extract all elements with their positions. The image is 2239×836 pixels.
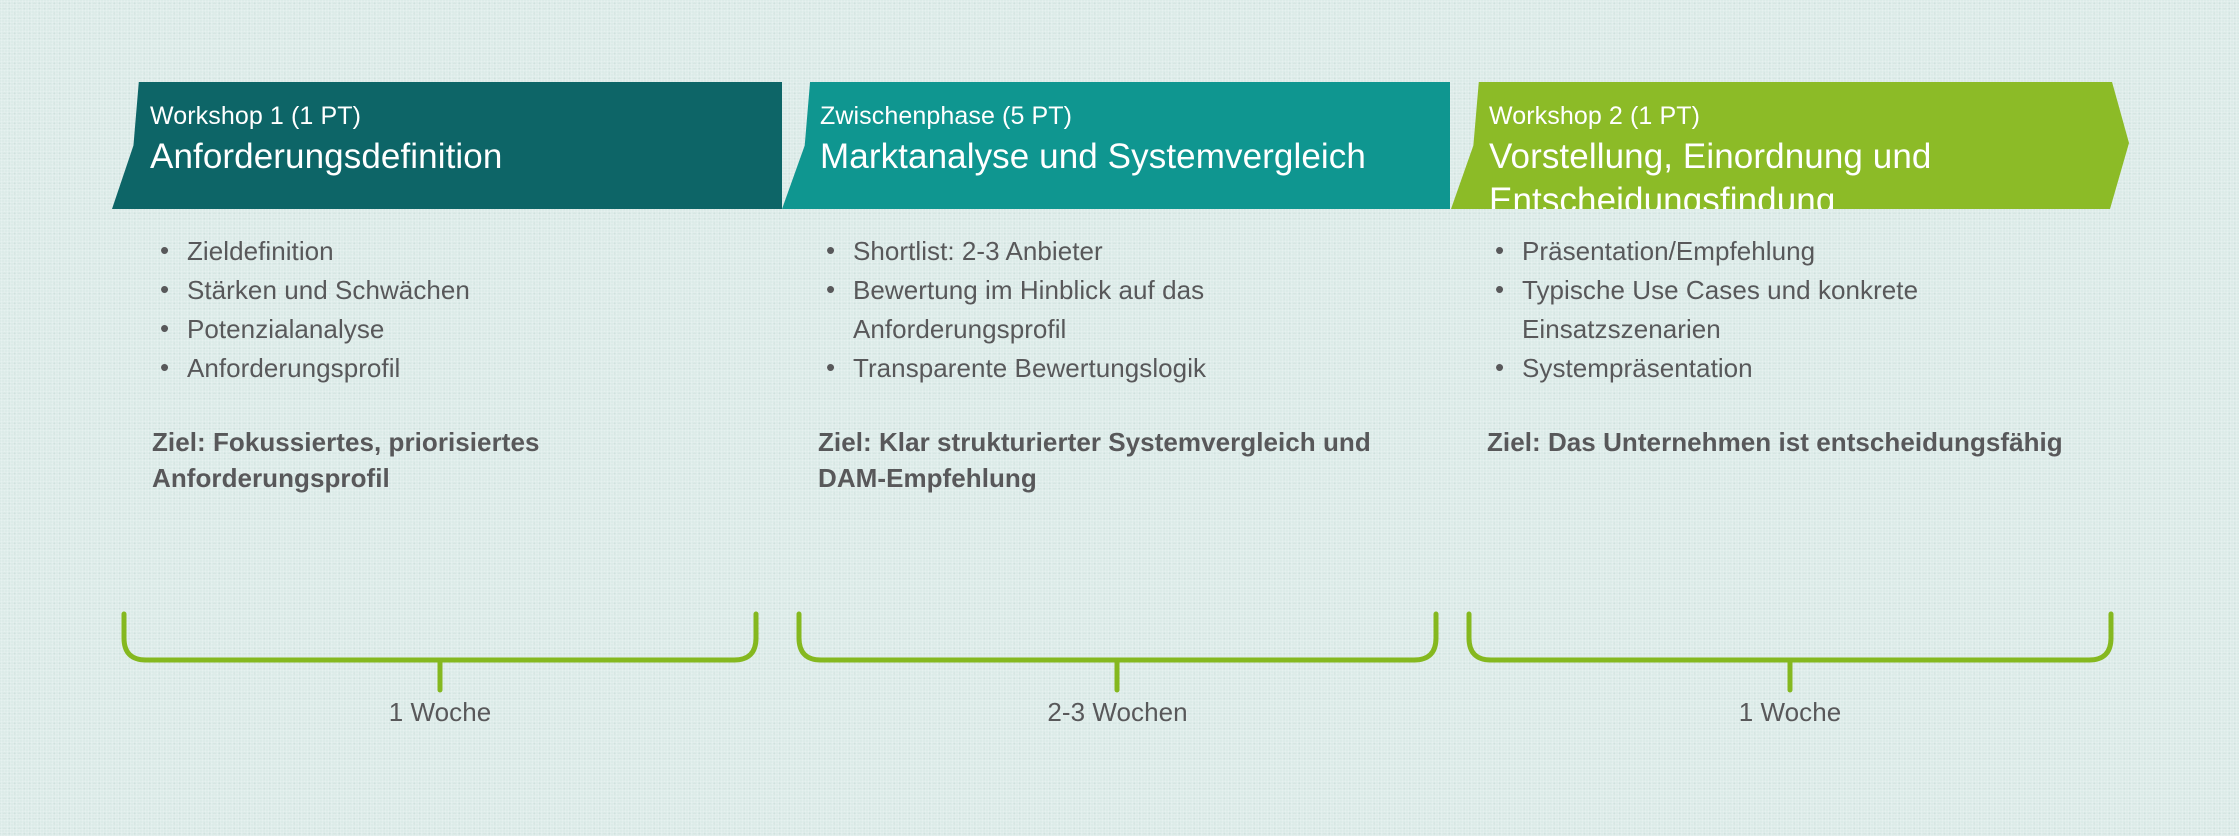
phase-3-title: Vorstellung, Einordnung und Entscheidung…: [1489, 135, 2049, 223]
phase-banner-3-content: Workshop 2 (1 PT) Vorstellung, Einordnun…: [1489, 82, 2129, 223]
phase-banner-1[interactable]: Workshop 1 (1 PT) Anforderungsdefinition: [112, 82, 782, 209]
duration-label-2: 2-3 Wochen: [795, 696, 1440, 728]
list-item: Transparente Bewertungslogik: [818, 349, 1418, 388]
bracket-shape-icon: [1465, 610, 2115, 694]
phase-1-bullet-list: Zieldefinition Stärken und Schwächen Pot…: [152, 232, 752, 388]
duration-label-1: 1 Woche: [120, 696, 760, 728]
list-item: Shortlist: 2-3 Anbieter: [818, 232, 1418, 271]
list-item: Potenzialanalyse: [152, 310, 752, 349]
phase-banner-3[interactable]: Workshop 2 (1 PT) Vorstellung, Einordnun…: [1451, 82, 2129, 209]
phase-column-3: Präsentation/Empfehlung Typische Use Cas…: [1487, 232, 2087, 460]
duration-bracket-3: 1 Woche: [1465, 610, 2115, 730]
phase-1-title: Anforderungsdefinition: [150, 135, 710, 179]
phase-banner-1-content: Workshop 1 (1 PT) Anforderungsdefinition: [150, 82, 782, 179]
phase-1-goal: Ziel: Fokussiertes, priorisiertes Anford…: [152, 424, 742, 496]
duration-label-3: 1 Woche: [1465, 696, 2115, 728]
phase-banner-2-content: Zwischenphase (5 PT) Marktanalyse und Sy…: [820, 82, 1450, 179]
list-item: Stärken und Schwächen: [152, 271, 752, 310]
bracket-shape-icon: [795, 610, 1440, 694]
phase-2-title: Marktanalyse und Systemvergleich: [820, 135, 1380, 179]
phase-column-1: Zieldefinition Stärken und Schwächen Pot…: [152, 232, 752, 496]
duration-bracket-2: 2-3 Wochen: [795, 610, 1440, 730]
phase-3-eyebrow: Workshop 2 (1 PT): [1489, 99, 2129, 133]
duration-bracket-1: 1 Woche: [120, 610, 760, 730]
phase-column-2: Shortlist: 2-3 Anbieter Bewertung im Hin…: [818, 232, 1418, 496]
phase-2-goal: Ziel: Klar strukturierter Systemvergleic…: [818, 424, 1408, 496]
phase-1-eyebrow: Workshop 1 (1 PT): [150, 99, 782, 133]
phase-2-eyebrow: Zwischenphase (5 PT): [820, 99, 1450, 133]
list-item: Zieldefinition: [152, 232, 752, 271]
phase-2-bullet-list: Shortlist: 2-3 Anbieter Bewertung im Hin…: [818, 232, 1418, 388]
list-item: Systempräsentation: [1487, 349, 2087, 388]
phase-banner-2[interactable]: Zwischenphase (5 PT) Marktanalyse und Sy…: [782, 82, 1450, 209]
phase-3-goal: Ziel: Das Unternehmen ist entscheidungsf…: [1487, 424, 2077, 460]
process-timeline-diagram: Workshop 1 (1 PT) Anforderungsdefinition…: [0, 0, 2239, 836]
phase-banner-row: Workshop 1 (1 PT) Anforderungsdefinition…: [0, 82, 2239, 209]
list-item: Präsentation/Empfehlung: [1487, 232, 2087, 271]
phase-3-bullet-list: Präsentation/Empfehlung Typische Use Cas…: [1487, 232, 2087, 388]
list-item: Bewertung im Hinblick auf das Anforderun…: [818, 271, 1418, 349]
bracket-shape-icon: [120, 610, 760, 694]
list-item: Typische Use Cases und konkrete Einsatzs…: [1487, 271, 2087, 349]
list-item: Anforderungsprofil: [152, 349, 752, 388]
